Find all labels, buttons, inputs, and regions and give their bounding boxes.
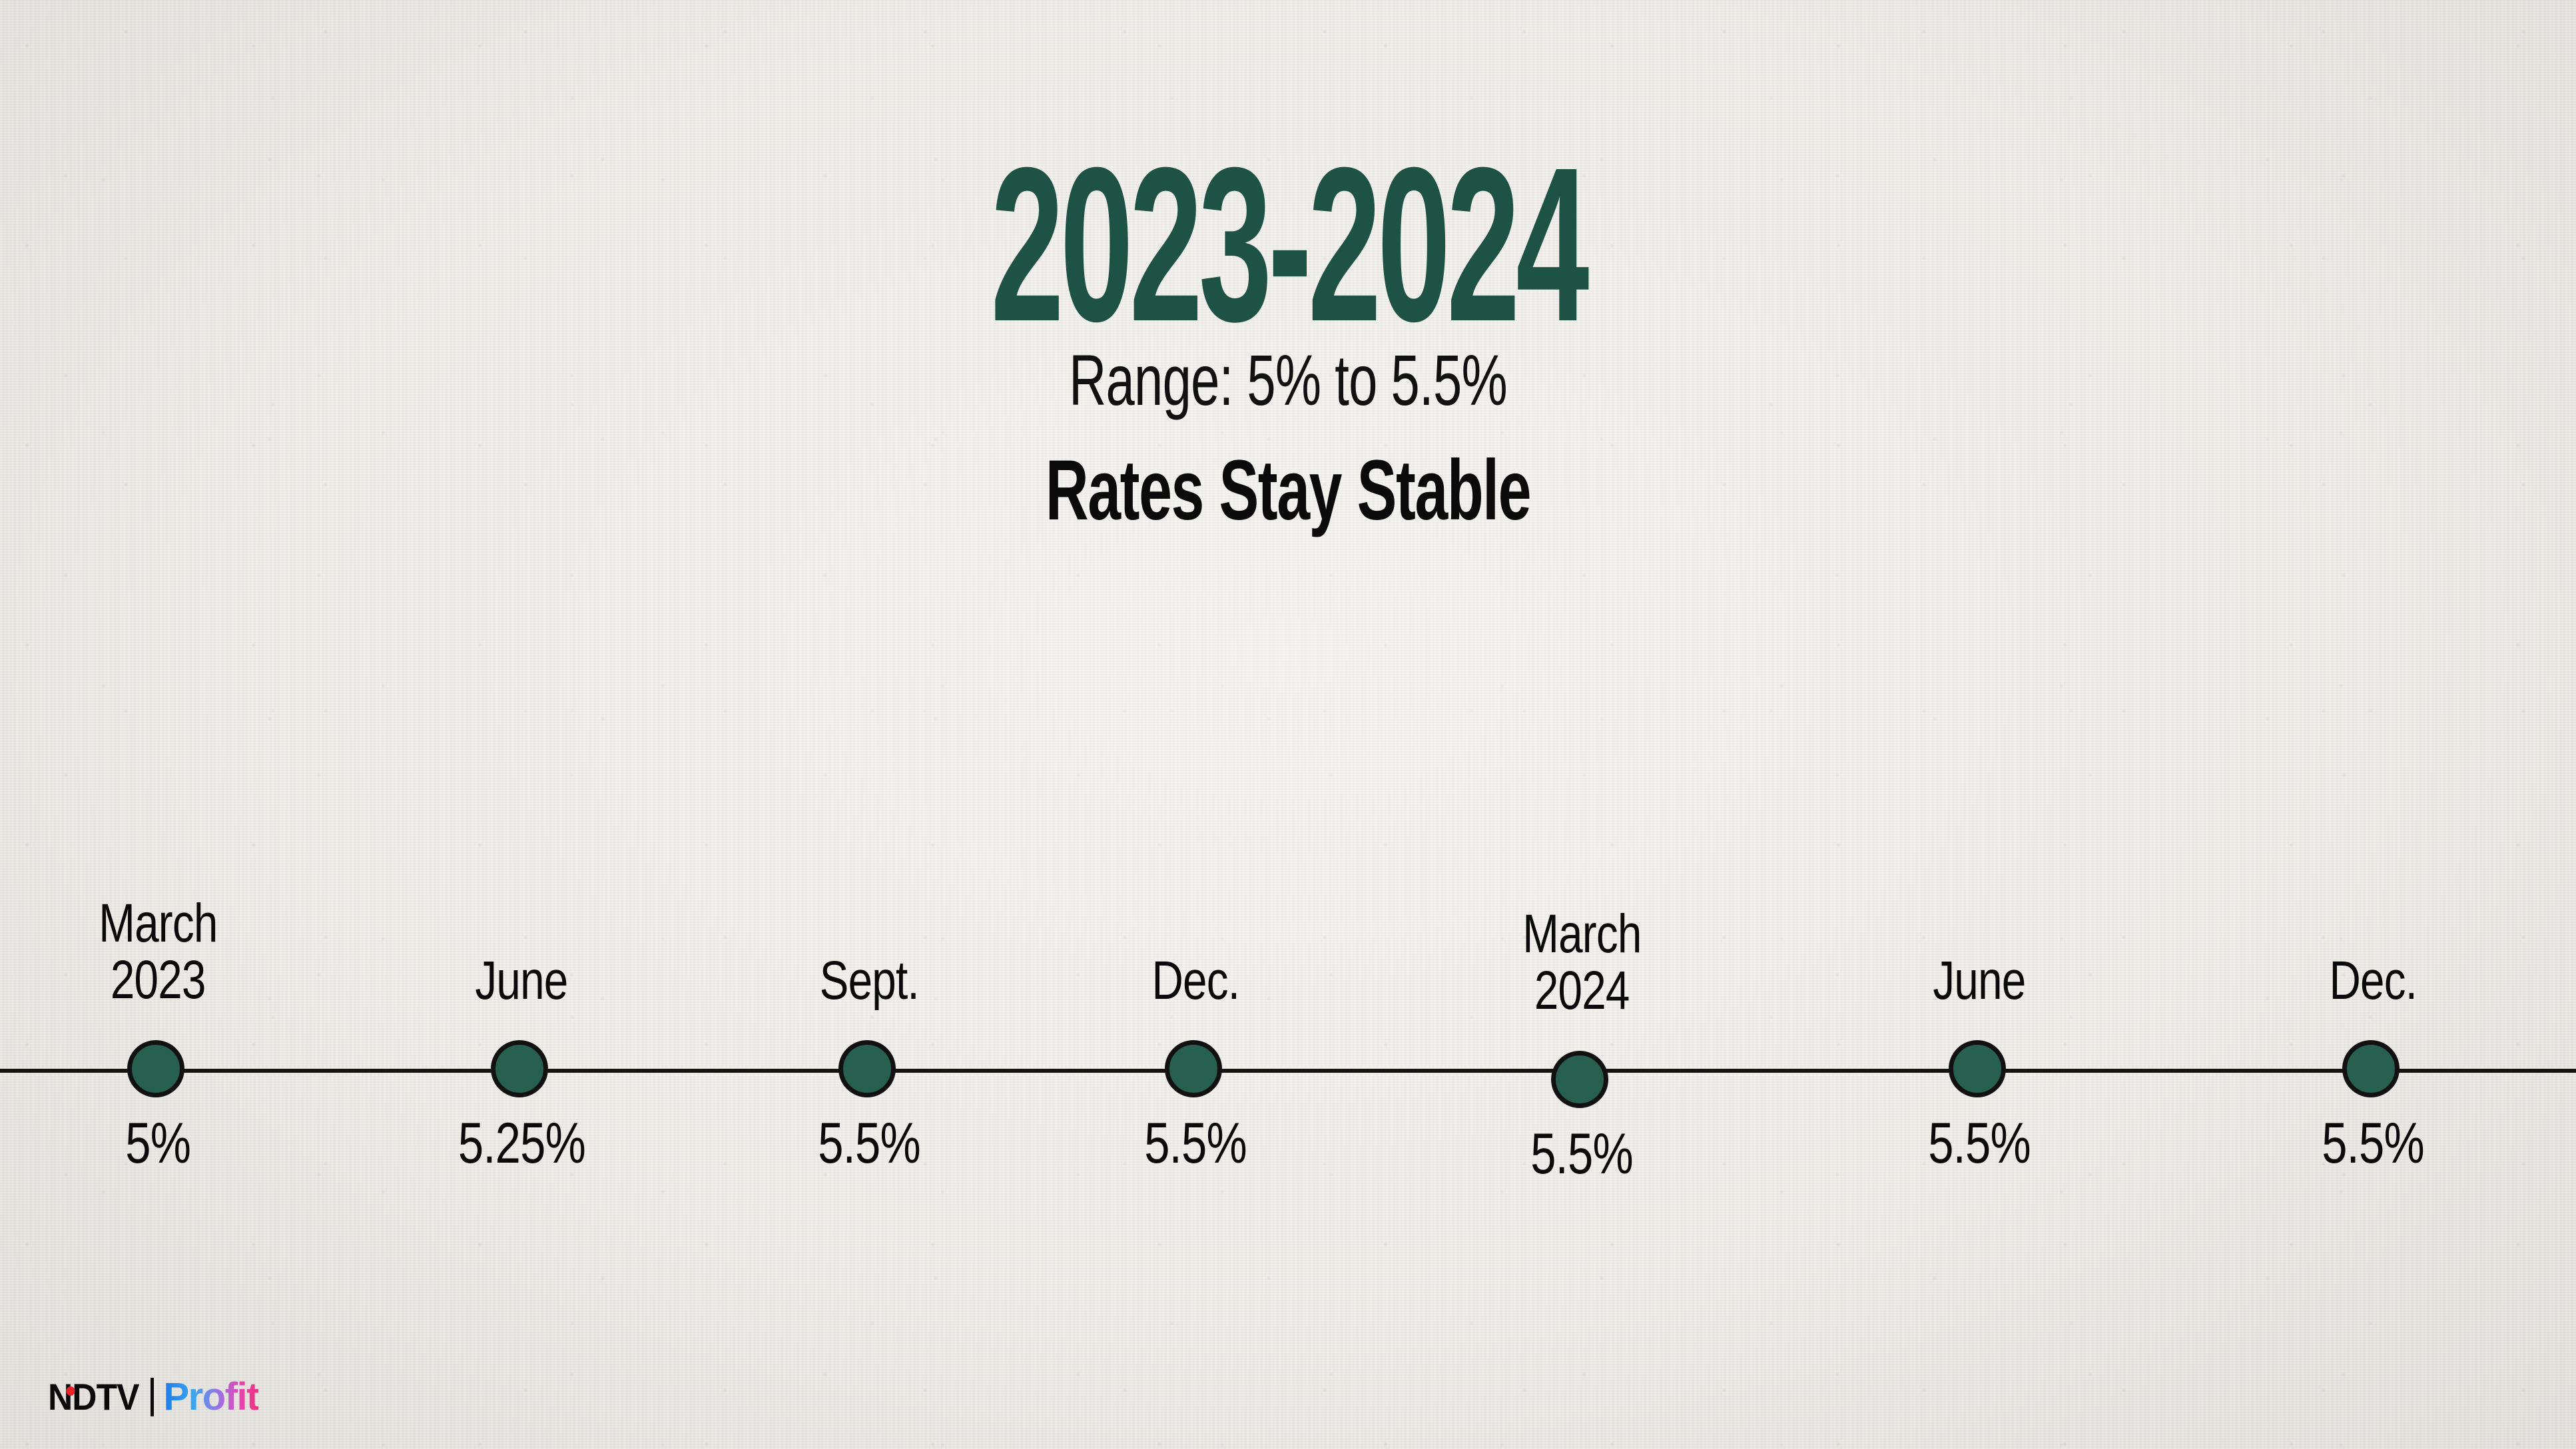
ndtv-red-dot-icon: [67, 1386, 75, 1396]
timeline-rate-text: 5.5%: [1530, 1125, 1633, 1183]
timeline-dot[interactable]: [127, 1040, 184, 1097]
timeline-dot[interactable]: [1551, 1051, 1608, 1108]
timeline-date-line: Sept.: [819, 952, 918, 1009]
timeline-rate-text: 5%: [125, 1115, 190, 1172]
timeline-dot[interactable]: [491, 1040, 548, 1097]
page-title: 2023-2024: [515, 0, 2061, 330]
timeline-date-line: June: [1933, 952, 2025, 1009]
timeline-date-line: 2023: [111, 952, 206, 1008]
ndtv-wordmark: NDTV: [48, 1378, 139, 1416]
timeline-rate-text: 5.5%: [2322, 1115, 2424, 1172]
timeline-rate-text: 5.25%: [458, 1115, 585, 1172]
header-block: 2023-2024 Range: 5% to 5.5% Rates Stay S…: [0, 0, 2576, 533]
timeline-rate-text: 5.5%: [1928, 1115, 2031, 1172]
logo-divider: [151, 1378, 154, 1416]
tagline: Rates Stay Stable: [386, 416, 2190, 533]
timeline-date-line: June: [475, 952, 567, 1009]
timeline-dot[interactable]: [1165, 1040, 1222, 1097]
timeline-rate-value: 5.5%: [2093, 1115, 2576, 1172]
timeline-date-line: Dec.: [1151, 952, 1239, 1009]
timeline-date-line: March: [1522, 906, 1641, 962]
timeline-date-line: 2024: [1534, 962, 1630, 1019]
timeline-rate-text: 5.5%: [818, 1115, 920, 1172]
timeline-date-line: Dec.: [2329, 952, 2417, 1009]
timeline-axis: [0, 1069, 2576, 1073]
timeline-date-label: Dec.: [2093, 952, 2576, 1009]
range-subtitle: Range: 5% to 5.5%: [361, 330, 2216, 416]
timeline-date-line: March: [99, 895, 217, 952]
timeline-rate-text: 5.5%: [1144, 1115, 1247, 1172]
timeline-dot[interactable]: [1949, 1040, 2006, 1097]
timeline-dot[interactable]: [838, 1040, 896, 1097]
ndtv-profit-logo: NDTV Profit: [48, 1376, 258, 1418]
profit-wordmark: Profit: [163, 1378, 258, 1416]
timeline-dot[interactable]: [2342, 1040, 2400, 1097]
ndtv-text: NDTV: [48, 1376, 139, 1418]
